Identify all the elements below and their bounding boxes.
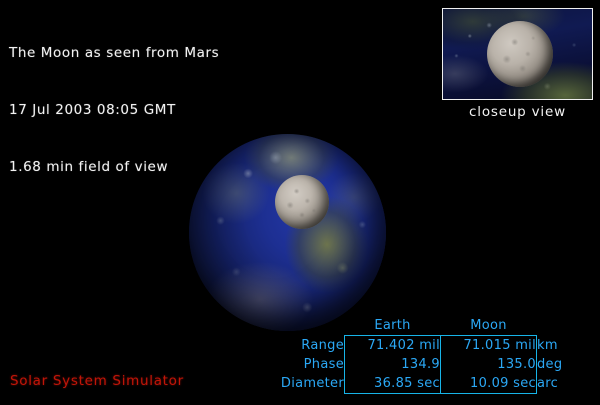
caption-title: The Moon as seen from Mars [9, 44, 219, 63]
table-row: Range 71.402 mil 71.015 mil km [258, 336, 562, 356]
row-label-diameter: Diameter [258, 374, 345, 394]
measurements-table: Earth Moon Range 71.402 mil 71.015 mil k… [258, 316, 562, 394]
table-row: Diameter 36.85 sec 10.09 sec arc [258, 374, 562, 394]
header-spacer-left [258, 316, 345, 336]
caption-field-of-view: 1.68 min field of view [9, 158, 219, 177]
header-moon: Moon [441, 316, 537, 336]
row-label-phase: Phase [258, 355, 345, 374]
earth-globe [189, 134, 386, 331]
closeup-view-label: closeup view [442, 104, 593, 120]
header-earth: Earth [345, 316, 441, 336]
row-label-range: Range [258, 336, 345, 356]
closeup-moon-disc [487, 21, 553, 87]
range-earth-value: 71.402 mil [345, 336, 441, 356]
table-row: Phase 134.9 135.0 deg [258, 355, 562, 374]
header-spacer-right [537, 316, 563, 336]
phase-earth-value: 134.9 [345, 355, 441, 374]
table-header-row: Earth Moon [258, 316, 562, 336]
caption-datetime: 17 Jul 2003 08:05 GMT [9, 101, 219, 120]
diameter-moon-value: 10.09 sec [441, 374, 537, 394]
simulator-screen: The Moon as seen from Mars 17 Jul 2003 0… [0, 0, 600, 405]
phase-moon-value: 135.0 [441, 355, 537, 374]
closeup-view-panel[interactable] [442, 8, 593, 100]
diameter-earth-value: 36.85 sec [345, 374, 441, 394]
earth-terminator-shading [189, 134, 386, 331]
diameter-unit: arc [537, 374, 563, 394]
phase-unit: deg [537, 355, 563, 374]
caption-block: The Moon as seen from Mars 17 Jul 2003 0… [9, 6, 219, 215]
moon-disc [275, 175, 329, 229]
range-unit: km [537, 336, 563, 356]
brand-label: Solar System Simulator [10, 373, 184, 389]
range-moon-value: 71.015 mil [441, 336, 537, 356]
